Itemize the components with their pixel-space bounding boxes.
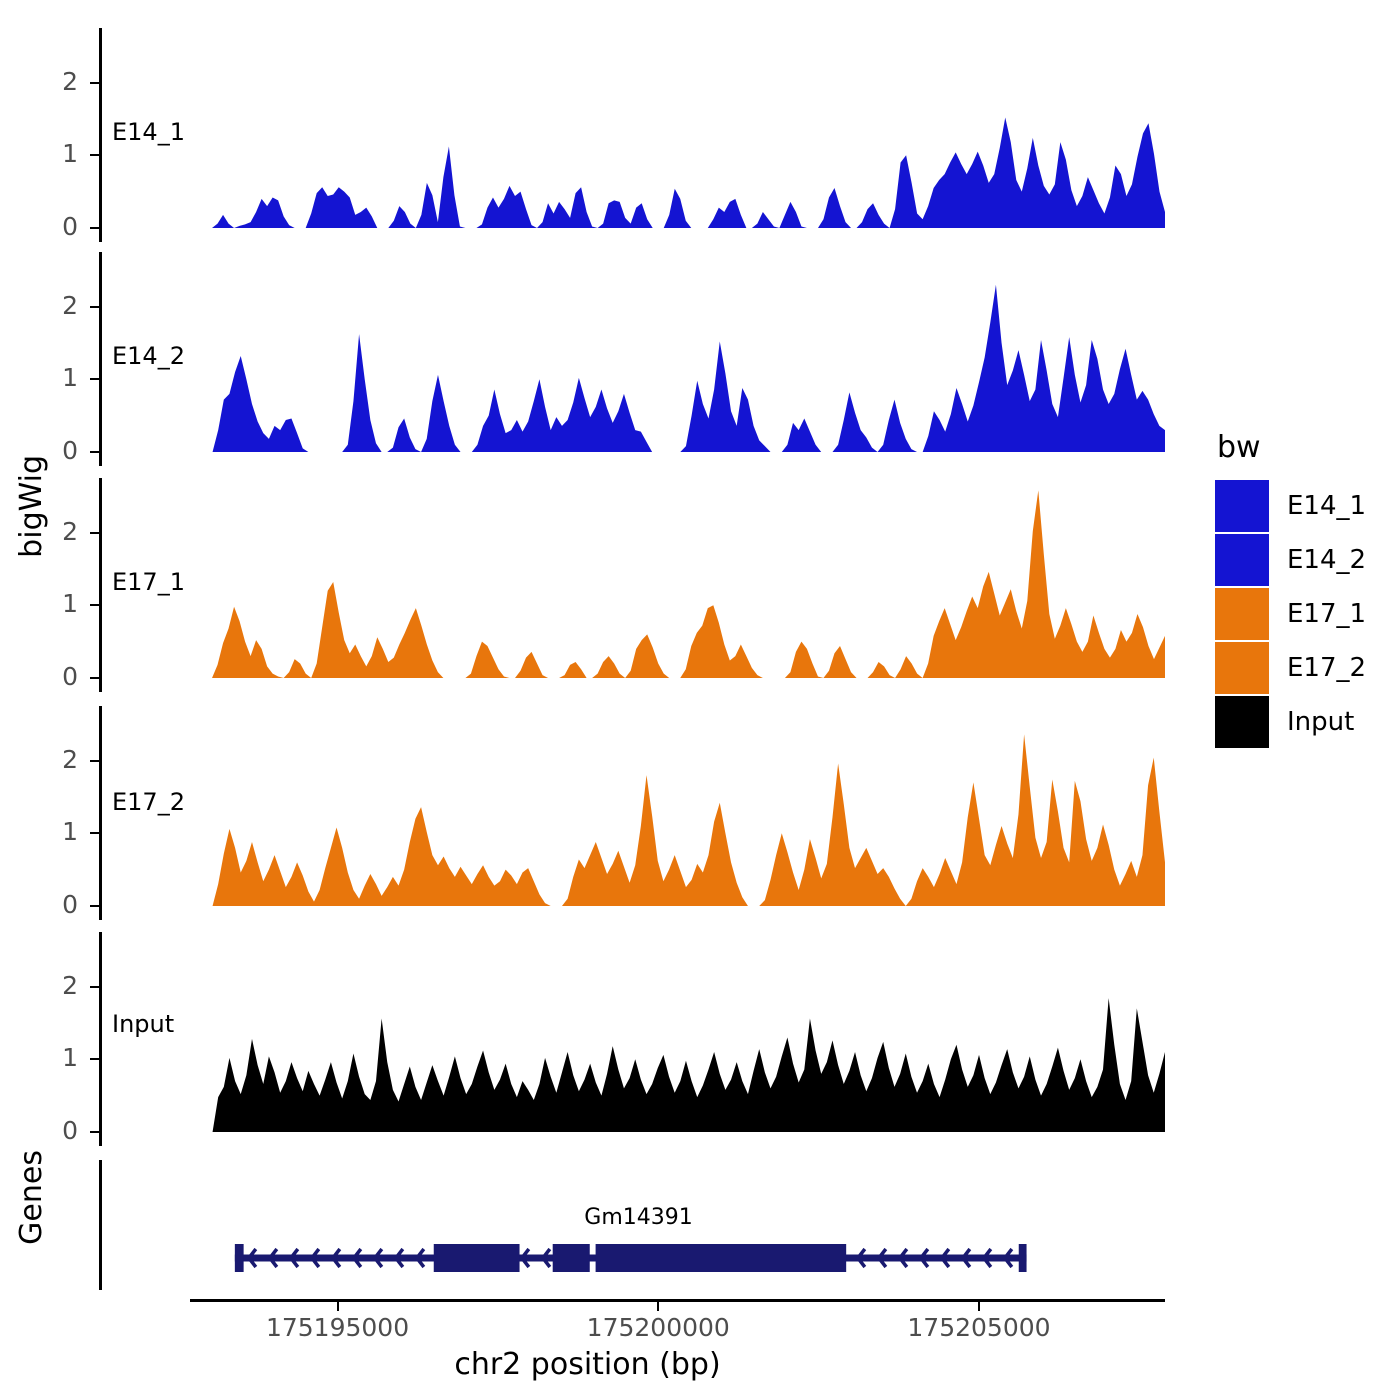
legend-swatch-Input <box>1215 696 1269 748</box>
genes-axis-line <box>99 1160 102 1290</box>
y-tick-E17_1-1 <box>90 604 99 606</box>
x-tick-175205000 <box>978 1302 980 1311</box>
y-tick-label-E14_2-1: 1 <box>0 365 78 390</box>
y-axis-line-E17_1 <box>99 478 102 692</box>
legend-swatch-E17_2 <box>1215 642 1269 694</box>
gene-name-label: Gm14391 <box>584 1205 692 1230</box>
y-tick-label-E17_1-2: 2 <box>0 519 78 544</box>
y-tick-E14_1-1 <box>90 154 99 156</box>
legend-swatch-E14_2 <box>1215 534 1269 586</box>
y-tick-E14_1-0 <box>90 227 99 229</box>
y-tick-E17_2-0 <box>90 905 99 907</box>
y-tick-Input-0 <box>90 1131 99 1133</box>
y-tick-label-E17_1-1: 1 <box>0 591 78 616</box>
y-tick-E17_1-0 <box>90 677 99 679</box>
y-axis-line-Input <box>99 932 102 1146</box>
y-tick-E14_2-2 <box>90 306 99 308</box>
legend-swatch-E17_1 <box>1215 588 1269 640</box>
y-tick-label-E14_1-2: 2 <box>0 69 78 94</box>
track-plot-E14_2 <box>190 252 1165 456</box>
legend-swatch-E14_1 <box>1215 480 1269 532</box>
x-tick-label-175205000: 175205000 <box>907 1313 1050 1342</box>
y-tick-label-Input-0: 0 <box>0 1118 78 1143</box>
y-tick-label-Input-1: 1 <box>0 1045 78 1070</box>
x-tick-175195000 <box>337 1302 339 1311</box>
y-tick-label-E14_1-1: 1 <box>0 141 78 166</box>
y-tick-Input-1 <box>90 1058 99 1060</box>
y-tick-label-E14_1-0: 0 <box>0 214 78 239</box>
exon-1 <box>235 1244 244 1272</box>
track-plot-E14_1 <box>190 28 1165 232</box>
y-axis-label-genes: Genes <box>14 1150 49 1245</box>
track-plot-Input <box>190 932 1165 1136</box>
y-tick-E17_2-2 <box>90 760 99 762</box>
track-label-E14_1: E14_1 <box>112 118 185 146</box>
track-label-Input: Input <box>112 1010 174 1038</box>
legend-label-E17_1: E17_1 <box>1287 599 1366 629</box>
y-tick-label-E17_2-2: 2 <box>0 747 78 772</box>
y-axis-line-E14_2 <box>99 252 102 466</box>
y-tick-label-E17_2-0: 0 <box>0 892 78 917</box>
y-tick-E17_1-2 <box>90 532 99 534</box>
y-tick-label-Input-2: 2 <box>0 973 78 998</box>
y-tick-E17_2-1 <box>90 832 99 834</box>
legend-item-E17_2[interactable]: E17_2 <box>1215 641 1366 695</box>
exon-4 <box>596 1244 847 1272</box>
y-tick-label-E14_2-0: 0 <box>0 438 78 463</box>
y-tick-label-E14_2-2: 2 <box>0 293 78 318</box>
legend-title: bw <box>1217 430 1366 465</box>
y-tick-E14_2-1 <box>90 378 99 380</box>
x-tick-175200000 <box>657 1302 659 1311</box>
legend-item-Input[interactable]: Input <box>1215 695 1366 749</box>
legend-label-E14_2: E14_2 <box>1287 545 1366 575</box>
track-plot-E17_1 <box>190 478 1165 682</box>
legend-label-E14_1: E14_1 <box>1287 491 1366 521</box>
legend-label-E17_2: E17_2 <box>1287 653 1366 683</box>
y-tick-label-E17_2-1: 1 <box>0 819 78 844</box>
y-tick-E14_1-2 <box>90 82 99 84</box>
y-axis-line-E14_1 <box>99 28 102 242</box>
exon-3 <box>553 1244 590 1272</box>
y-tick-Input-2 <box>90 986 99 988</box>
gene-model-Gm14391 <box>190 1235 1165 1281</box>
legend-label-Input: Input <box>1287 707 1354 737</box>
track-label-E17_2: E17_2 <box>112 788 185 816</box>
exon-2 <box>434 1244 520 1272</box>
x-axis-label: chr2 position (bp) <box>0 1347 1175 1382</box>
x-tick-label-175195000: 175195000 <box>266 1313 409 1342</box>
track-label-E17_1: E17_1 <box>112 568 185 596</box>
track-label-E14_2: E14_2 <box>112 342 185 370</box>
y-axis-line-E17_2 <box>99 706 102 920</box>
y-tick-label-E17_1-0: 0 <box>0 664 78 689</box>
legend-items: E14_1E14_2E17_1E17_2Input <box>1215 479 1366 749</box>
x-tick-label-175200000: 175200000 <box>587 1313 730 1342</box>
legend-item-E17_1[interactable]: E17_1 <box>1215 587 1366 641</box>
y-tick-E14_2-0 <box>90 451 99 453</box>
legend: bw E14_1E14_2E17_1E17_2Input <box>1215 430 1366 749</box>
legend-item-E14_1[interactable]: E14_1 <box>1215 479 1366 533</box>
legend-item-E14_2[interactable]: E14_2 <box>1215 533 1366 587</box>
track-plot-E17_2 <box>190 706 1165 910</box>
exon-5 <box>1019 1244 1027 1272</box>
